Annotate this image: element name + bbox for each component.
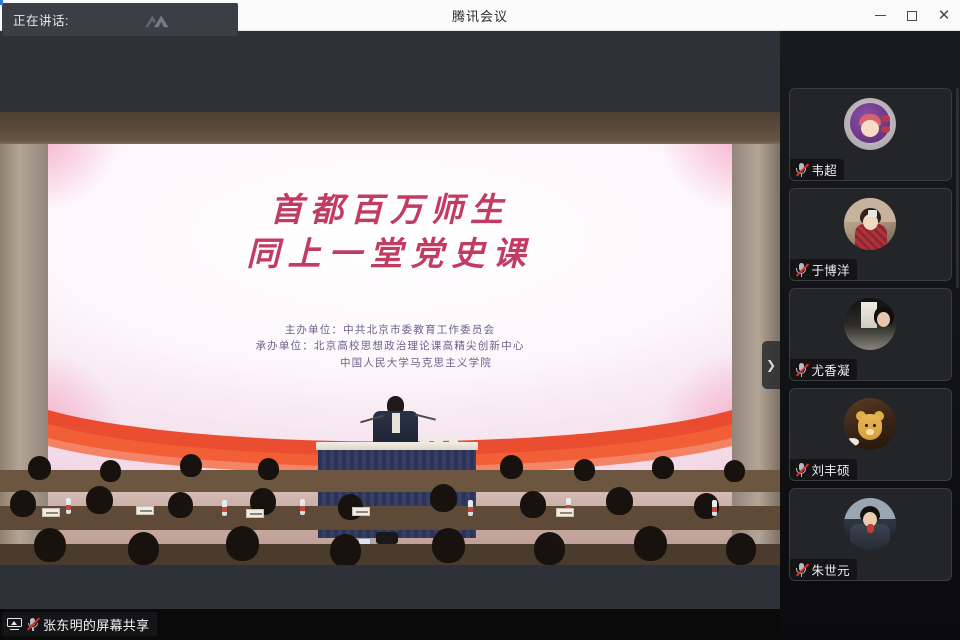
audience-area [0,454,780,565]
participant-nameplate: 朱世元 [790,559,857,580]
podium-table-top [316,442,478,450]
participant-rail-scrollbar[interactable] [956,88,959,288]
water-bottle [222,500,227,516]
water-bottle [712,500,717,516]
screen-share-icon [7,618,22,630]
audience-head [500,455,523,479]
avatar [844,198,896,250]
participant-rail[interactable]: 韦超 于博洋 尤香凝 [780,31,960,640]
water-bottle [300,499,305,515]
audience-head [606,487,633,515]
participant-nameplate: 刘丰硕 [790,459,857,480]
audience-head [330,534,361,565]
avatar [844,98,896,150]
audience-head [520,491,546,518]
screen-share-owner-label: 张东明的屏幕共享 [43,615,149,634]
audience-head [724,460,745,482]
maximize-icon [907,11,917,21]
slide-host: 承办单位：北京高校思想政治理论课高精尖创新中心 [255,340,524,352]
name-plate [352,507,370,516]
audience-head [432,528,465,563]
audience-head [10,490,36,517]
avatar [844,498,896,550]
speaker-person-shirt [392,413,400,433]
audience-head [226,526,259,561]
water-bottle [66,498,71,514]
audience-head [726,533,756,565]
participant-name: 朱世元 [812,560,850,579]
slide-subtitle: 主办单位：中共北京市委教育工作委员会 承办单位：北京高校思想政治理论课高精尖创新… [48,322,732,371]
participant-tile[interactable]: 于博洋 [789,188,952,281]
chevron-right-icon: ❯ [766,358,776,372]
audience-head [100,460,121,482]
audience-head [652,456,674,479]
audience-head [430,484,457,512]
participant-nameplate: 韦超 [790,159,845,180]
participant-nameplate: 于博洋 [790,259,857,280]
audience-head [534,532,565,565]
letterbox-bottom [0,565,780,609]
screen-share-owner-badge: 张东明的屏幕共享 [2,612,157,636]
tencent-meeting-window: 腾讯会议 ✕ 正在讲话: [0,0,960,640]
audience-head [28,456,51,480]
collapse-panel-button[interactable]: ❯ [762,341,780,389]
shared-video: 首都百万师生 同上一堂党史课 主办单位：中共北京市委教育工作委员会 承办单位：北… [0,112,780,565]
name-plate [246,509,264,518]
name-plate [136,506,154,515]
speaking-label: 正在讲话: [13,10,69,29]
water-bottle [468,500,473,516]
mic-muted-icon [795,562,808,577]
mic-muted-icon [26,617,39,632]
audience-head [180,454,202,477]
cup [434,435,443,443]
table-cups [420,435,464,443]
mic-muted-icon [795,162,808,177]
audience-head [634,526,667,561]
audience-head [168,492,193,518]
participant-name: 尤香凝 [812,360,850,379]
speaking-indicator: 正在讲话: [2,3,238,36]
participant-tile[interactable]: 刘丰硕 [789,388,952,481]
minimize-button[interactable] [864,0,896,31]
audience-head [574,459,595,481]
participant-name: 韦超 [812,160,838,179]
participant-name: 于博洋 [812,260,850,279]
cup [449,435,458,443]
participant-tile[interactable]: 朱世元 [789,488,952,581]
app-title: 腾讯会议 [452,6,508,25]
audience-head [128,532,159,565]
cup [420,435,429,443]
hall-wall [0,112,780,144]
slide-title-line2: 同上一堂党史课 [48,234,732,278]
letterbox-top [0,31,780,112]
slide-host-line2: 中国人民大学马克思主义学院 [48,355,732,371]
participant-nameplate: 尤香凝 [790,359,857,380]
name-plate [42,508,60,517]
avatar [844,298,896,350]
slide-title: 首都百万师生 同上一堂党史课 [48,190,732,277]
mic-muted-icon [795,262,808,277]
minimize-icon [875,15,886,16]
tencent-meeting-watermark-icon [136,11,172,29]
mic-muted-icon [795,362,808,377]
participant-tile[interactable]: 韦超 [789,88,952,181]
participant-tile[interactable]: 尤香凝 [789,288,952,381]
audience-desk-row [0,506,780,530]
window-accent-edge [0,0,3,5]
name-plate [556,508,574,517]
audience-head [34,528,66,562]
avatar [844,398,896,450]
slide-organizer: 主办单位：中共北京市委教育工作委员会 [285,324,496,336]
mic-muted-icon [795,462,808,477]
audience-head [258,458,279,480]
shared-screen-stage[interactable]: 首都百万师生 同上一堂党史课 主办单位：中共北京市委教育工作委员会 承办单位：北… [0,31,780,609]
audience-head [86,486,113,514]
participant-name: 刘丰硕 [812,460,850,479]
close-button[interactable]: ✕ [928,0,960,31]
slide-title-line1: 首都百万师生 [270,193,510,229]
window-controls: ✕ [864,0,960,31]
maximize-button[interactable] [896,0,928,31]
close-icon: ✕ [938,8,951,23]
